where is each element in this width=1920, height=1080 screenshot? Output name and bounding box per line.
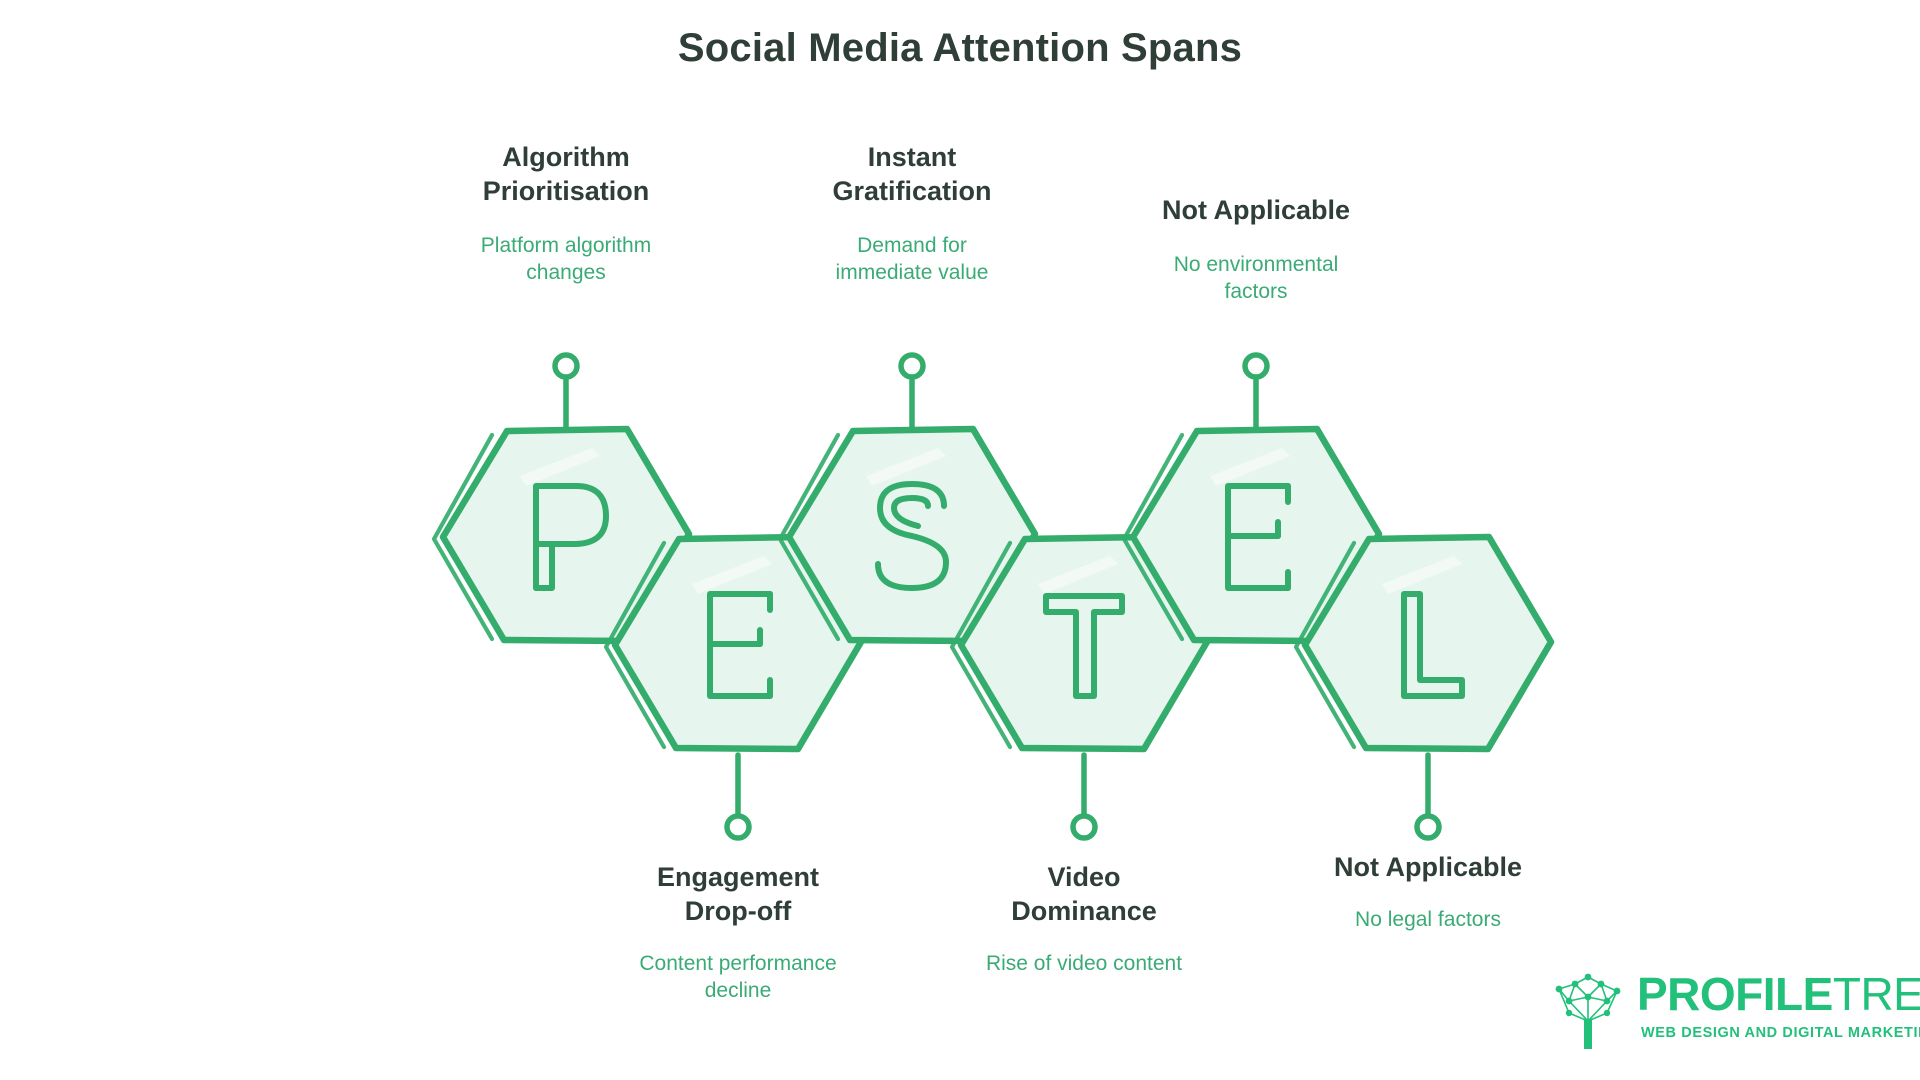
label-t-detail: Rise of video content bbox=[854, 950, 1314, 977]
label-e2-detail: No environmental factors bbox=[1026, 251, 1486, 306]
connector-e1 bbox=[727, 755, 749, 838]
label-l-heading: Not Applicable bbox=[1198, 850, 1658, 884]
infographic-canvas: Social Media Attention Spans bbox=[0, 0, 1920, 1080]
label-l-detail: No legal factors bbox=[1198, 906, 1658, 933]
connector-e2 bbox=[1245, 355, 1267, 430]
label-l: Not Applicable No legal factors bbox=[1198, 850, 1658, 933]
logo-tagline: WEB DESIGN AND DIGITAL MARKETING bbox=[1641, 1025, 1920, 1041]
label-e2: Not Applicable No environmental factors bbox=[1026, 193, 1486, 306]
logo-wordmark: PROFILETREE bbox=[1637, 971, 1920, 1017]
profiletree-logo: PROFILETREE WEB DESIGN AND DIGITAL MARKE… bbox=[1545, 965, 1905, 1060]
tree-network-icon bbox=[1545, 971, 1631, 1051]
logo-name-light: TREE bbox=[1833, 968, 1920, 1020]
label-e2-heading: Not Applicable bbox=[1026, 193, 1486, 227]
connector-l bbox=[1417, 755, 1439, 838]
logo-name-bold: PROFILE bbox=[1637, 968, 1833, 1020]
connector-s bbox=[901, 355, 923, 430]
connector-p bbox=[555, 355, 577, 430]
connector-t bbox=[1073, 755, 1095, 838]
